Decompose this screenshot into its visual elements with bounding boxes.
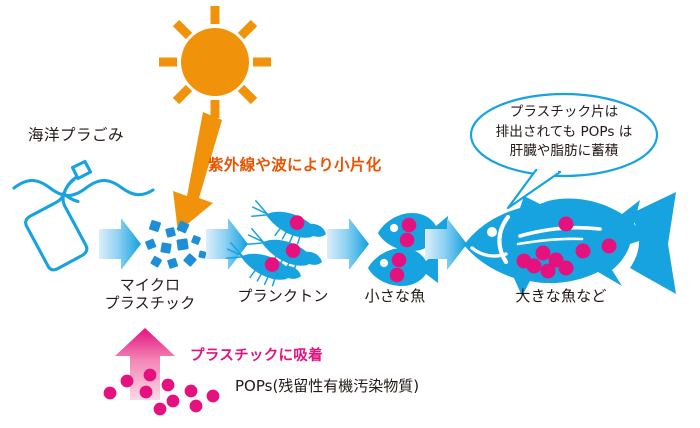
microplastic-fragments-icon [145,220,207,269]
plastic-bottle-icon [26,162,91,270]
diagram-graphics [0,0,700,428]
diagram-canvas: 海洋プラごみ マイクロ プラスチック プランクトン 小さな魚 大きな魚など PO… [0,0,700,428]
sun-icon [159,6,271,118]
label-pops: POPs(残留性有機汚染物質) [235,378,419,396]
label-small-fish: 小さな魚 [365,288,426,306]
pops-particle-dots-icon [104,369,220,416]
label-ocean-plastic: 海洋プラごみ [28,126,124,144]
tuna-fish-icon [464,192,676,296]
label-microplastic: マイクロ プラスチック [105,277,196,312]
label-plankton: プランクトン [237,288,328,306]
blue-right-arrow-icon [206,218,248,270]
label-big-fish: 大きな魚など [515,288,606,306]
water-wave-icon [14,181,153,196]
annotation-uv-fragmentation: 紫外線や波により小片化 [208,153,382,175]
annotation-adsorb-to-plastic: プラスチックに吸着 [190,344,323,365]
blue-right-arrow-icon [99,218,141,270]
callout-text: プラスチック片は 排出されても POPs は 肝臓や脂肪に蓄積 [479,103,649,162]
blue-right-arrow-icon [327,218,369,270]
